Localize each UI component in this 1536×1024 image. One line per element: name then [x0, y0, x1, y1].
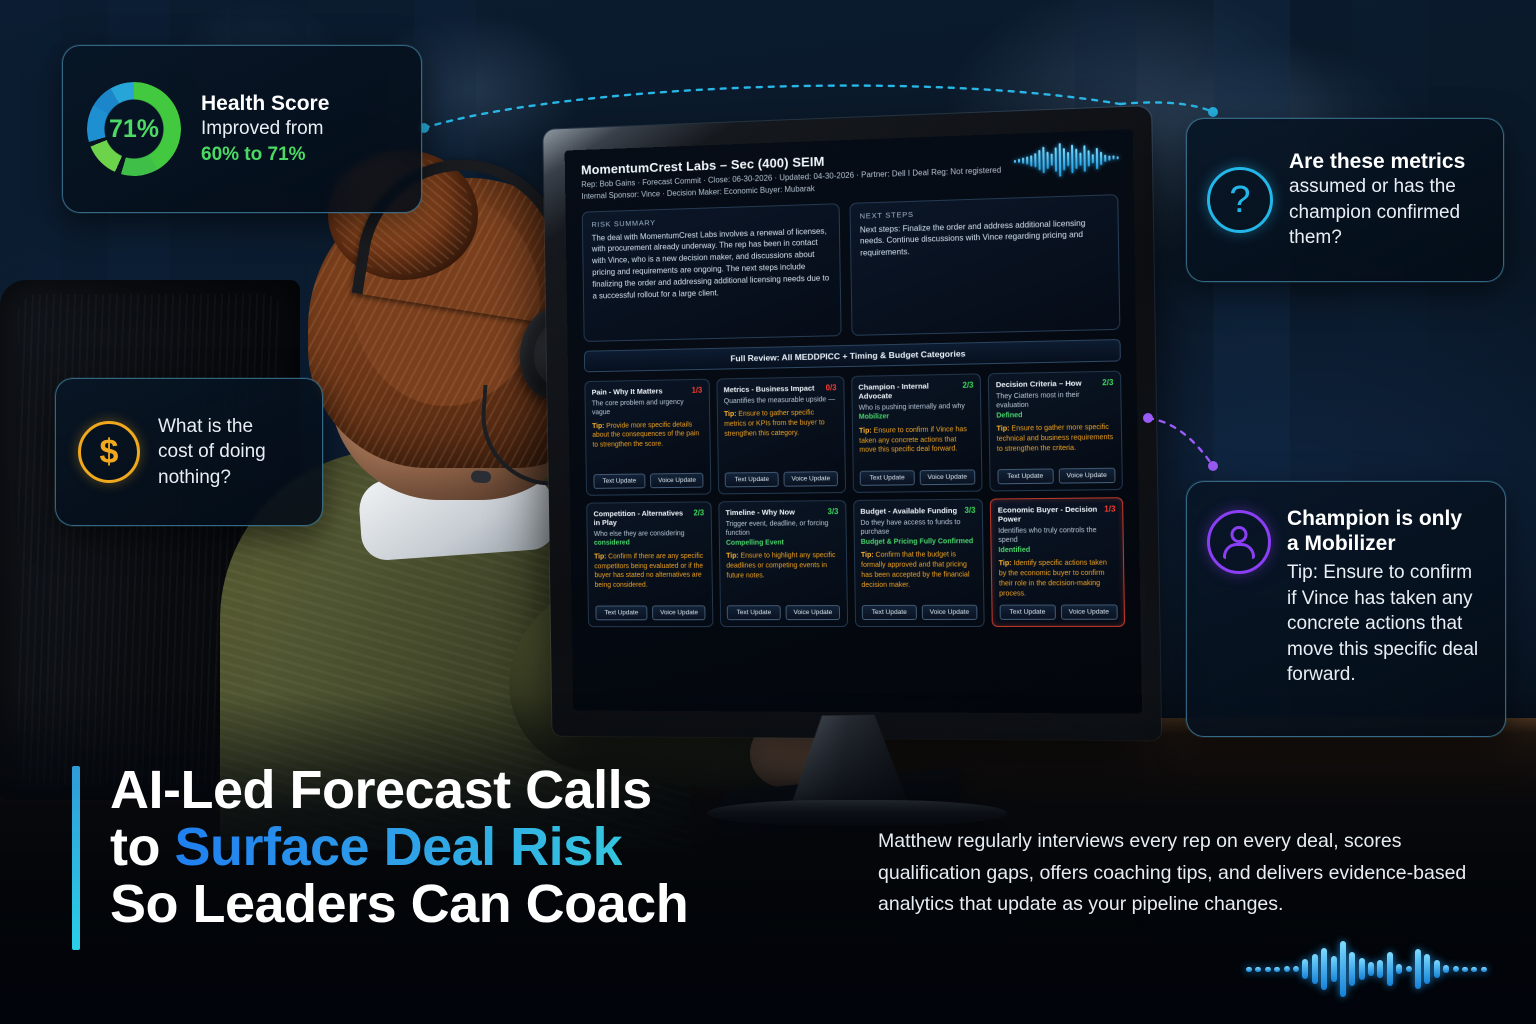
card-header: Decision Criteria – How2/3	[996, 377, 1114, 388]
health-score-donut: 71%	[87, 82, 181, 176]
card-score: 2/3	[1102, 377, 1113, 386]
card-flag: considered	[594, 538, 705, 548]
card-tip: Tip: Ensure to gather specific metrics o…	[724, 408, 837, 439]
health-score-title: Health Score	[201, 91, 329, 116]
card-tip-text: Confirm if there are any specific compet…	[594, 553, 703, 589]
card-actions: Text UpdateVoice Update	[862, 599, 978, 619]
card-tip-text: Ensure to confirm if Vince has taken any…	[859, 426, 967, 454]
card-title: Timeline - Why Now	[725, 507, 794, 517]
headline-line-2: to Surface Deal Risk	[110, 819, 832, 876]
next-steps-body: Next steps: Finalize the order and addre…	[860, 216, 1109, 260]
health-score-subtitle: Improved from	[201, 116, 329, 141]
champion-tip-body: Tip: Ensure to confirm if Vince has take…	[1287, 560, 1485, 687]
voice-update-button[interactable]: Voice Update	[650, 472, 703, 487]
headline-line-3: So Leaders Can Coach	[110, 876, 832, 933]
card-actions: Text UpdateVoice Update	[999, 599, 1117, 620]
text-update-button[interactable]: Text Update	[593, 473, 646, 488]
card-actions: Text UpdateVoice Update	[595, 600, 706, 620]
meddpicc-card: Economic Buyer - Decision Power1/3Identi…	[990, 497, 1125, 627]
card-tip-label: Tip:	[592, 423, 604, 430]
card-tip: Tip: Identify specific actions taken by …	[999, 559, 1117, 599]
card-header: Timeline - Why Now3/3	[725, 507, 838, 517]
card-tip-text: Identify specific actions taken by the e…	[999, 560, 1107, 597]
deal-review-app: MomentumCrest Labs – Sec (400) SEIM Rep:…	[565, 129, 1142, 714]
card-header: Champion - Internal Advocate2/3	[858, 380, 973, 400]
card-flag: Defined	[996, 409, 1114, 421]
text-update-button[interactable]: Text Update	[595, 605, 648, 620]
question-line-3: champion confirmed	[1289, 200, 1465, 225]
card-tip: Tip: Confirm that the budget is formally…	[861, 550, 977, 590]
text-update-button[interactable]: Text Update	[860, 470, 915, 486]
card-tip-label: Tip:	[594, 553, 606, 560]
question-circle-icon: ?	[1207, 167, 1273, 233]
card-score: 0/3	[826, 383, 837, 392]
card-subtitle: Trigger event, deadline, or forcing func…	[726, 519, 839, 539]
card-actions: Text UpdateVoice Update	[860, 464, 976, 485]
cost-line-1: What is the	[158, 414, 266, 439]
voice-update-button[interactable]: Voice Update	[784, 471, 838, 487]
card-flag: Identified	[998, 545, 1116, 555]
card-tip-text: Provide more specific details about the …	[592, 421, 699, 449]
card-header: Competition - Alternatives in Play2/3	[593, 508, 704, 527]
card-tip-text: Ensure to highlight any specific deadlin…	[726, 552, 835, 579]
card-title: Pain - Why It Matters	[592, 386, 663, 396]
card-score: 3/3	[964, 505, 975, 514]
card-flag: Mobilizer	[859, 411, 974, 422]
card-tip: Tip: Ensure to gather more specific tech…	[996, 423, 1114, 455]
card-tip-label: Tip:	[726, 553, 739, 560]
card-subtitle: Quantifies the measurable upside —	[724, 395, 837, 406]
card-title: Metrics - Business Impact	[724, 383, 815, 394]
health-score-card: 71% Health Score Improved from 60% to 71…	[62, 45, 422, 213]
card-flag: Compelling Event	[726, 538, 839, 548]
card-tip-text: Ensure to gather specific metrics or KPI…	[724, 410, 825, 438]
cost-line-3: nothing?	[158, 465, 266, 490]
cost-of-inaction-card: $ What is the cost of doing nothing?	[55, 378, 323, 526]
card-score: 2/3	[694, 508, 705, 517]
full-review-bar[interactable]: Full Review: All MEDDPICC + Timing & Bud…	[584, 338, 1121, 371]
card-title: Decision Criteria – How	[996, 378, 1082, 389]
health-score-change: 60% to 71%	[201, 142, 329, 167]
card-tip: Tip: Provide more specific details about…	[592, 420, 703, 451]
question-line-4: them?	[1289, 225, 1465, 250]
card-title: Budget - Available Funding	[860, 505, 957, 515]
meddpicc-card-grid: Pain - Why It Matters1/3The core problem…	[584, 370, 1125, 627]
headline-line-2-accent: Surface Deal Risk	[174, 817, 622, 877]
headline-block: AI-Led Forecast Calls to Surface Deal Ri…	[72, 762, 832, 934]
audio-waveform-icon	[1246, 934, 1487, 1004]
card-actions: Text UpdateVoice Update	[727, 600, 840, 620]
card-actions: Text UpdateVoice Update	[997, 462, 1115, 484]
card-score: 1/3	[1104, 504, 1115, 513]
audio-waveform-icon	[1014, 140, 1119, 178]
meddpicc-card: Budget - Available Funding3/3Do they hav…	[853, 498, 985, 626]
card-subtitle: Do they have access to funds to purchase	[860, 518, 976, 538]
voice-update-button[interactable]: Voice Update	[922, 604, 978, 619]
champion-title-line-2: a Mobilizer	[1287, 531, 1485, 556]
headline-line-2-plain: to	[110, 817, 174, 877]
card-header: Economic Buyer - Decision Power1/3	[998, 504, 1116, 524]
health-score-percent: 71%	[87, 82, 181, 176]
card-tip: Tip: Ensure to highlight any specific de…	[726, 551, 839, 581]
card-tip-label: Tip:	[999, 560, 1012, 567]
metrics-question-card: ? Are these metrics assumed or has the c…	[1186, 118, 1504, 282]
risk-summary-panel: RISK SUMMARY The deal with MomentumCrest…	[582, 203, 842, 342]
dollar-circle-icon: $	[78, 421, 140, 483]
card-tip: Tip: Ensure to confirm if Vince has take…	[859, 425, 975, 456]
card-title: Economic Buyer - Decision Power	[998, 504, 1101, 523]
summary-panels: RISK SUMMARY The deal with MomentumCrest…	[582, 194, 1121, 342]
card-tip-text: Confirm that the budget is formally appr…	[861, 552, 969, 589]
card-actions: Text UpdateVoice Update	[593, 467, 704, 488]
card-subtitle: They Ciatters most in their evaluation	[996, 390, 1114, 411]
text-update-button[interactable]: Text Update	[727, 605, 781, 620]
card-header: Pain - Why It Matters1/3	[592, 385, 703, 396]
champion-title-line-1: Champion is only	[1287, 506, 1485, 531]
text-update-button[interactable]: Text Update	[997, 468, 1053, 484]
voice-update-button[interactable]: Voice Update	[1058, 467, 1115, 483]
champion-mobilizer-card: Champion is only a Mobilizer Tip: Ensure…	[1186, 481, 1506, 737]
voice-update-button[interactable]: Voice Update	[919, 469, 975, 485]
meddpicc-card: Competition - Alternatives in Play2/3Who…	[586, 501, 713, 627]
card-tip-text: Ensure to gather more specific technical…	[997, 424, 1114, 453]
card-flag: Budget & Pricing Fully Confirmed	[861, 537, 976, 547]
card-score: 1/3	[692, 385, 703, 394]
card-header: Metrics - Business Impact0/3	[724, 383, 837, 394]
monitor-screen: MomentumCrest Labs – Sec (400) SEIM Rep:…	[565, 129, 1142, 714]
card-tip: Tip: Confirm if there are any specific c…	[594, 552, 705, 591]
card-header: Budget - Available Funding3/3	[860, 505, 975, 515]
text-update-button[interactable]: Text Update	[999, 604, 1055, 619]
meddpicc-card: Decision Criteria – How2/3They Ciatters …	[988, 370, 1123, 491]
question-line-1: Are these metrics	[1289, 149, 1465, 174]
card-tip-label: Tip:	[724, 411, 737, 418]
card-title: Competition - Alternatives in Play	[593, 508, 689, 527]
card-tip-label: Tip:	[996, 426, 1009, 433]
meddpicc-card: Timeline - Why Now3/3Trigger event, dead…	[718, 500, 848, 627]
meddpicc-card: Metrics - Business Impact0/3Quantifies t…	[716, 376, 845, 494]
voice-update-button[interactable]: Voice Update	[652, 605, 705, 620]
cost-line-2: cost of doing	[158, 439, 266, 464]
meddpicc-card: Pain - Why It Matters1/3The core problem…	[584, 378, 711, 495]
card-score: 2/3	[962, 380, 973, 389]
voice-update-button[interactable]: Voice Update	[1060, 604, 1117, 619]
next-steps-panel: NEXT STEPS Next steps: Finalize the orde…	[849, 194, 1120, 336]
card-subtitle: The core problem and urgency vague	[592, 397, 703, 418]
headline-accent-bar	[72, 766, 80, 950]
text-update-button[interactable]: Text Update	[862, 604, 917, 619]
text-update-button[interactable]: Text Update	[725, 471, 779, 487]
body-copy: Matthew regularly interviews every rep o…	[878, 826, 1478, 921]
card-title: Champion - Internal Advocate	[858, 380, 958, 400]
question-line-2: assumed or has the	[1289, 174, 1465, 199]
card-actions: Text UpdateVoice Update	[725, 466, 838, 487]
card-tip-label: Tip:	[859, 427, 872, 434]
person-circle-icon	[1207, 510, 1271, 574]
card-subtitle: Identifies who truly controls the spend	[998, 526, 1116, 546]
desktop-monitor: MomentumCrest Labs – Sec (400) SEIM Rep:…	[539, 118, 1151, 738]
voice-update-button[interactable]: Voice Update	[786, 605, 840, 620]
card-score: 3/3	[828, 507, 839, 516]
headline-line-1: AI-Led Forecast Calls	[110, 762, 832, 819]
card-tip-label: Tip:	[861, 552, 874, 559]
meddpicc-card: Champion - Internal Advocate2/3Who is pu…	[851, 373, 983, 493]
risk-summary-body: The deal with MomentumCrest Labs involve…	[592, 225, 831, 303]
